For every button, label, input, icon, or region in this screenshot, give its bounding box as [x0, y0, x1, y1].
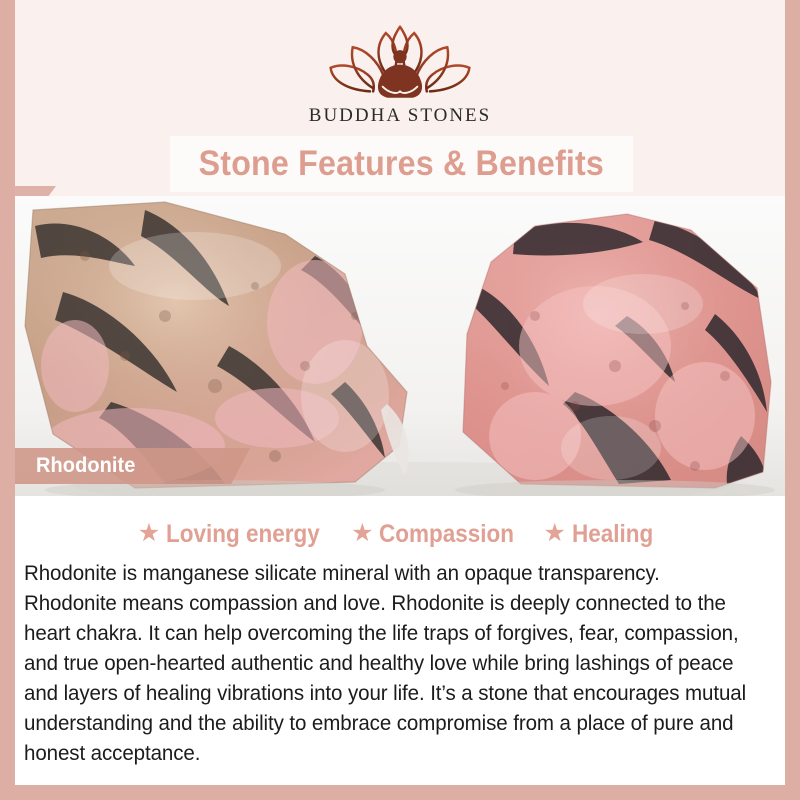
section-title-band: Stone Features & Benefits: [170, 136, 633, 192]
star-icon: ★: [351, 521, 373, 546]
benefit-item: ★ Compassion: [351, 520, 529, 549]
lotus-meditation-figure-icon: [320, 22, 480, 104]
brand-header: BUDDHA STONES: [15, 0, 785, 148]
stone-description: Rhodonite is manganese silicate mineral …: [24, 558, 748, 768]
benefit-item: ★ Healing: [544, 520, 663, 549]
star-icon: ★: [544, 521, 566, 546]
stone-caption-banner: Rhodonite: [15, 448, 250, 484]
brand-name: BUDDHA STONES: [309, 106, 491, 125]
benefit-label: Healing: [572, 520, 653, 549]
star-icon: ★: [138, 521, 160, 546]
page-title: Stone Features & Benefits: [199, 144, 604, 184]
stone-name: Rhodonite: [36, 454, 135, 478]
benefit-item: ★ Loving energy: [138, 520, 337, 549]
benefit-label: Loving energy: [166, 520, 320, 549]
benefits-row: ★ Loving energy ★ Compassion ★ Healing: [15, 514, 785, 554]
benefit-label: Compassion: [379, 520, 514, 549]
poster-root: BUDDHA STONES Stone Features & Benefits: [0, 0, 800, 800]
